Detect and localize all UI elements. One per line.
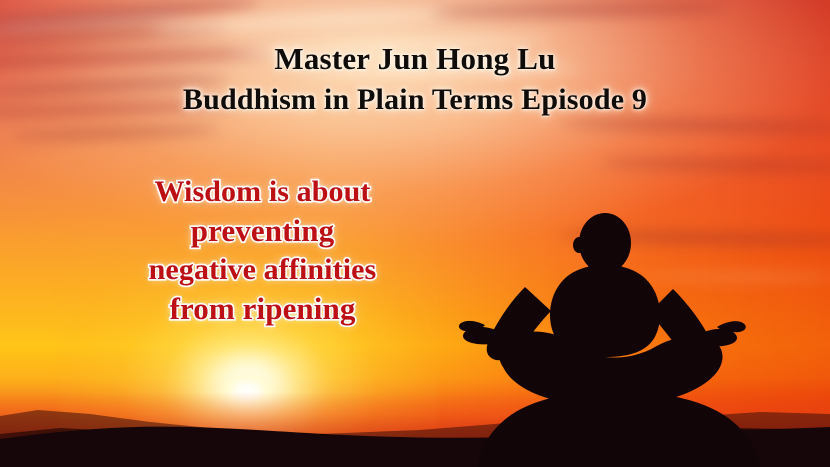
quote-line: negative affinities xyxy=(0,250,525,289)
quote-line: preventing xyxy=(0,211,525,250)
quote-line: Wisdom is about xyxy=(0,172,525,211)
quote-block: Wisdom is about preventing negative affi… xyxy=(0,172,525,328)
thumbnail-canvas: Master Jun Hong Lu Buddhism in Plain Ter… xyxy=(0,0,830,467)
title-line-series: Buddhism in Plain Terms Episode 9 xyxy=(0,79,830,120)
quote-line: from ripening xyxy=(0,289,525,328)
title-line-speaker: Master Jun Hong Lu xyxy=(0,38,830,79)
title-block: Master Jun Hong Lu Buddhism in Plain Ter… xyxy=(0,38,830,120)
